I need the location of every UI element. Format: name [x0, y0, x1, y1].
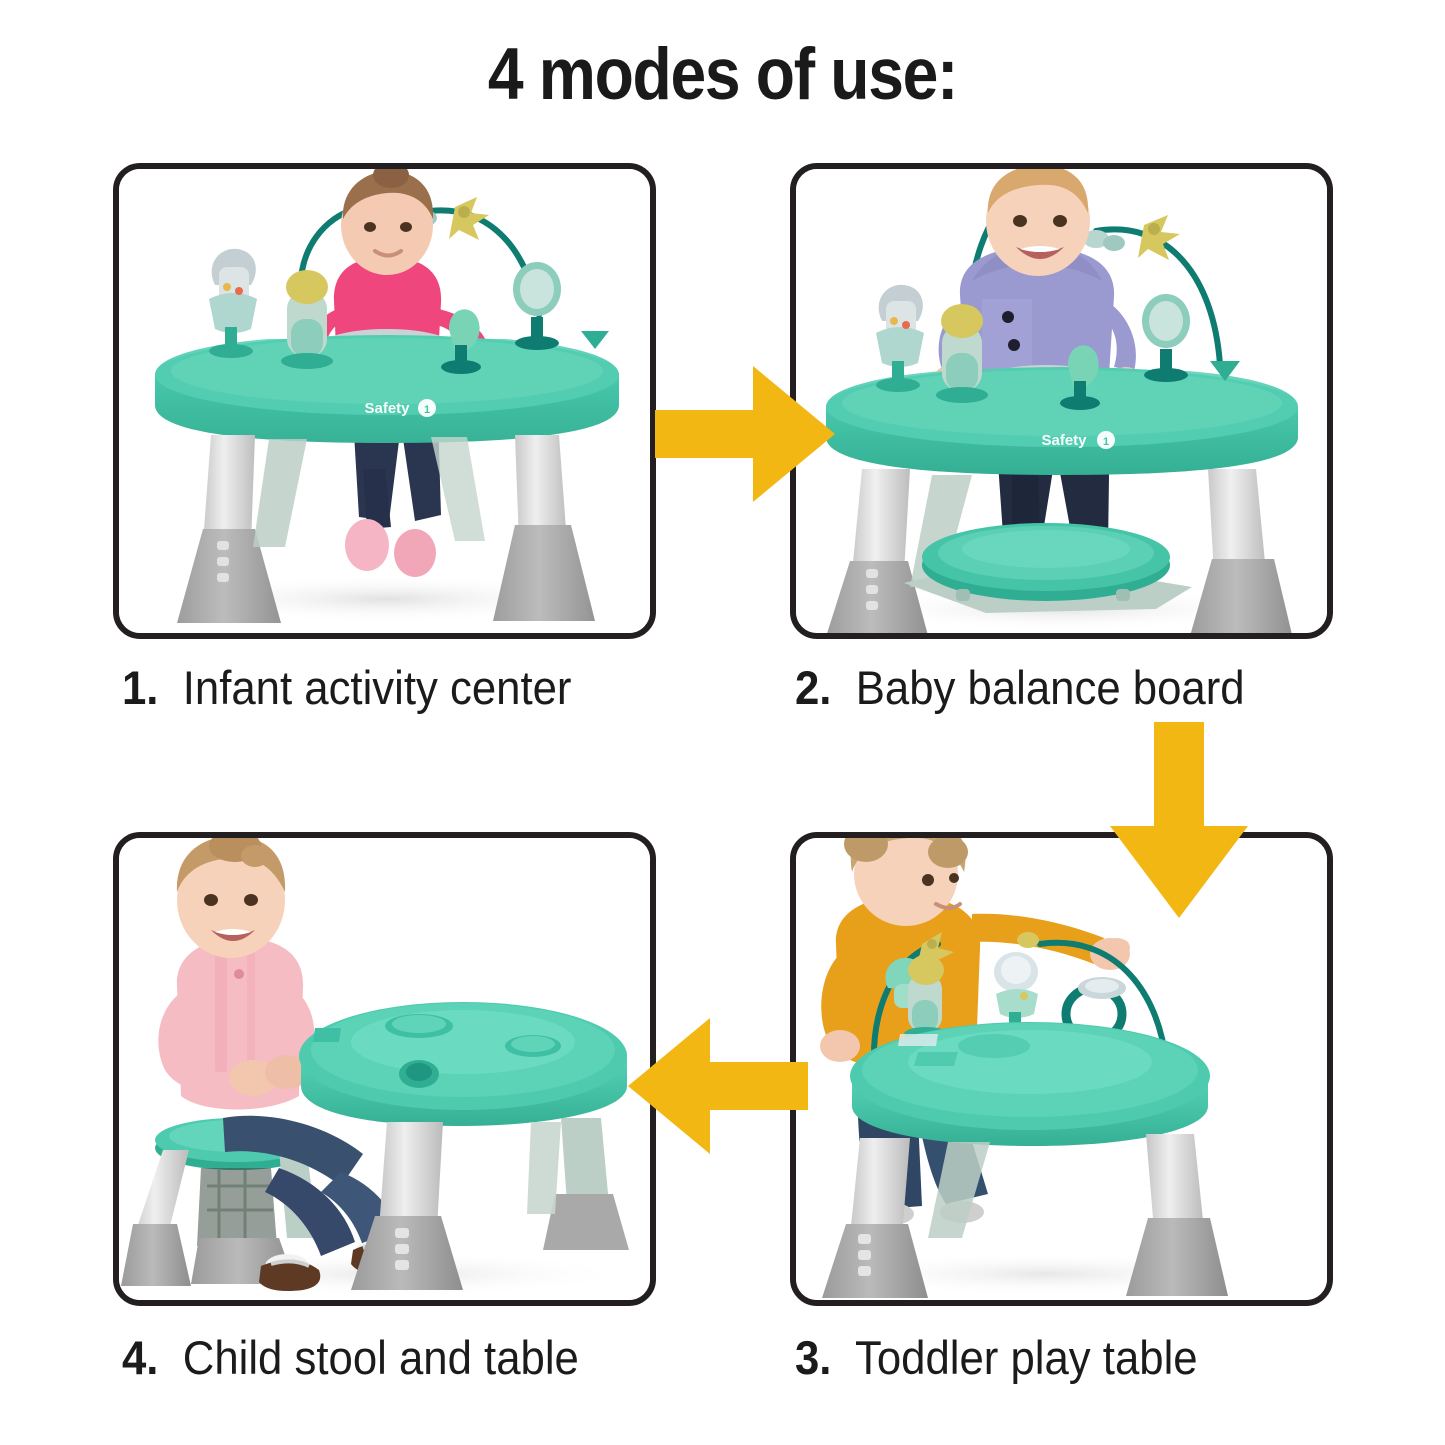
- mode-panel-4[interactable]: [113, 832, 656, 1306]
- product-photo-infant-activity-center: Safety 1: [119, 169, 650, 633]
- page-title: 4 modes of use:: [87, 34, 1359, 116]
- product-photo-child-stool-and-table: [119, 838, 650, 1300]
- mode-panel-2[interactable]: Safety 1: [790, 163, 1333, 639]
- caption-1-text: Infant activity center: [183, 661, 572, 714]
- caption-4-text: Child stool and table: [183, 1331, 579, 1384]
- flow-arrow-left-icon: [628, 1018, 808, 1154]
- caption-1-number: 1.: [122, 661, 171, 714]
- product-photo-baby-balance-board: Safety 1: [796, 169, 1327, 633]
- brand-logo-text: Safety: [364, 400, 410, 417]
- svg-text:1: 1: [1103, 436, 1109, 448]
- flow-arrow-right-icon: [655, 366, 835, 502]
- caption-2-number: 2.: [795, 661, 844, 714]
- infographic-canvas: 4 modes of use:: [0, 0, 1445, 1445]
- brand-logo-text: Safety: [1041, 432, 1087, 449]
- caption-1: 1. Infant activity center: [122, 660, 571, 716]
- caption-3: 3. Toddler play table: [795, 1330, 1198, 1386]
- svg-text:1: 1: [424, 404, 430, 416]
- caption-4: 4. Child stool and table: [122, 1330, 579, 1386]
- flow-arrow-down-icon: [1110, 722, 1248, 918]
- caption-2: 2. Baby balance board: [795, 660, 1245, 716]
- caption-3-number: 3.: [795, 1331, 844, 1384]
- caption-3-text: Toddler play table: [855, 1331, 1198, 1384]
- mode-panel-3[interactable]: [790, 832, 1333, 1306]
- mode-panel-1[interactable]: Safety 1: [113, 163, 656, 639]
- caption-2-text: Baby balance board: [856, 661, 1245, 714]
- caption-4-number: 4.: [122, 1331, 171, 1384]
